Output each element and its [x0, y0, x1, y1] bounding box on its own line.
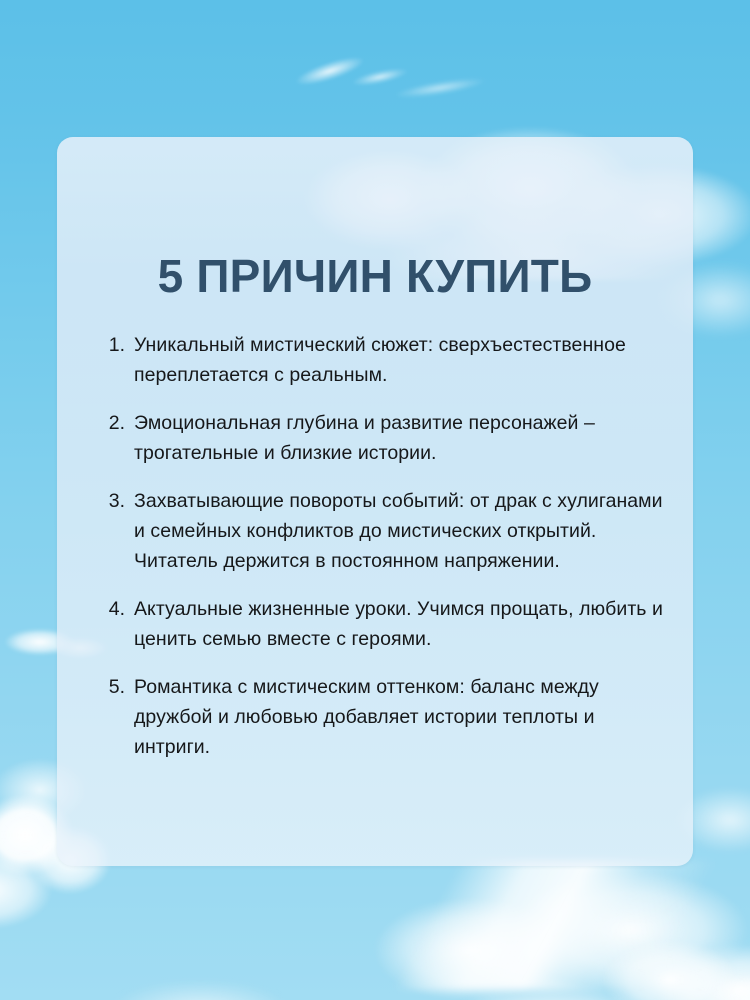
list-item: 2. Эмоциональная глубина и развитие перс…: [95, 408, 663, 468]
list-item-number: 2.: [95, 408, 134, 438]
list-item-text: Актуальные жизненные уроки. Учимся проща…: [134, 594, 663, 654]
list-item: 3. Захватывающие повороты событий: от др…: [95, 486, 663, 576]
cloud-wisp-icon: [344, 61, 416, 93]
reasons-list: 1. Уникальный мистический сюжет: сверхъе…: [95, 330, 663, 762]
list-item-number: 3.: [95, 486, 134, 516]
list-item-number: 1.: [95, 330, 134, 360]
list-item-text: Романтика с мистическим оттенком: баланс…: [134, 672, 663, 762]
page-title: 5 ПРИЧИН КУПИТЬ: [57, 253, 693, 299]
list-item-text: Эмоциональная глубина и развитие персона…: [134, 408, 663, 468]
poster-canvas: 5 ПРИЧИН КУПИТЬ 1. Уникальный мистически…: [0, 0, 750, 1000]
list-item-number: 5.: [95, 672, 134, 702]
content-card: 5 ПРИЧИН КУПИТЬ 1. Уникальный мистически…: [57, 137, 693, 866]
cloud-wisp-icon: [384, 70, 496, 107]
list-item-text: Захватывающие повороты событий: от драк …: [134, 486, 663, 576]
cloud-bottom-left-icon: [60, 930, 380, 1000]
cloud-wisp-icon: [283, 45, 377, 98]
list-item-text: Уникальный мистический сюжет: сверхъесте…: [134, 330, 663, 390]
list-item: 5. Романтика с мистическим оттенком: бал…: [95, 672, 663, 762]
cloud-bottom-right-icon: [560, 900, 750, 1000]
cloud-bottom-ridge-icon: [330, 860, 750, 990]
list-item: 4. Актуальные жизненные уроки. Учимся пр…: [95, 594, 663, 654]
list-item-number: 4.: [95, 594, 134, 624]
list-item: 1. Уникальный мистический сюжет: сверхъе…: [95, 330, 663, 390]
